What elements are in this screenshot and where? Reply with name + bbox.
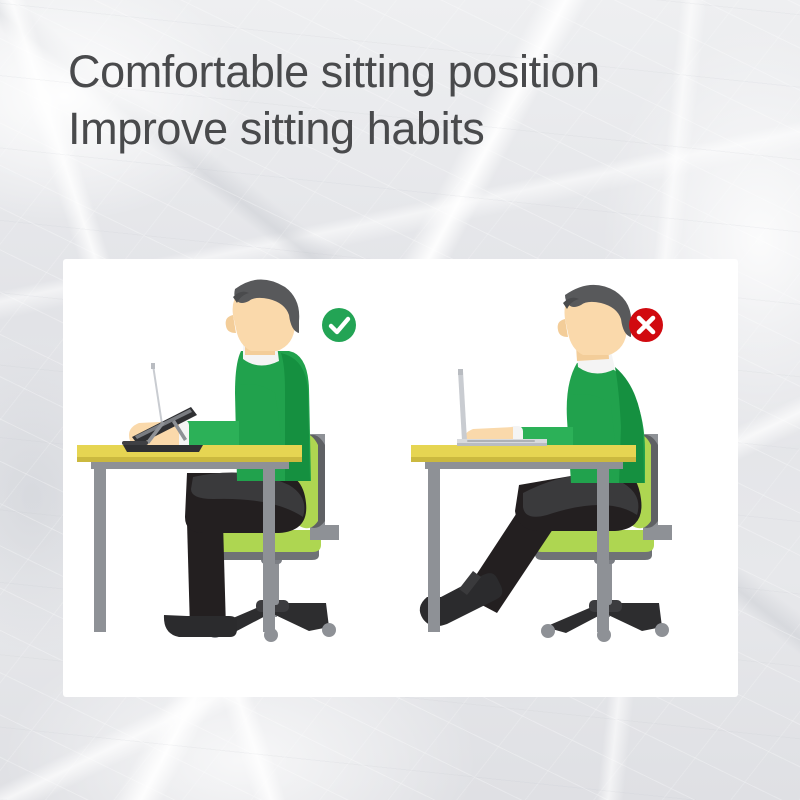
correct-posture-illustration xyxy=(63,259,403,697)
laptop-screen-incorrect xyxy=(458,371,467,441)
person-head-correct xyxy=(226,279,300,351)
page-title: Comfortable sitting position Improve sit… xyxy=(68,44,728,157)
desk-leg-right-correct xyxy=(263,464,275,632)
laptop-keyboard-incorrect xyxy=(467,440,535,442)
laptop-base-edge-incorrect xyxy=(457,443,547,446)
page-title-line-1: Comfortable sitting position xyxy=(68,44,728,101)
chair-seat-incorrect xyxy=(533,530,654,560)
desk-top-edge-incorrect xyxy=(411,457,636,462)
panel-incorrect-posture: incorrect xyxy=(401,259,738,697)
incorrect-posture-illustration xyxy=(401,259,738,697)
stand-base-correct xyxy=(123,445,203,452)
illustration-card: correct xyxy=(63,259,738,697)
desk-leg-right-incorrect xyxy=(597,464,609,632)
desk-leg-left-incorrect xyxy=(428,464,440,632)
desk-top-edge-correct xyxy=(77,457,302,462)
desk-leg-left-correct xyxy=(94,464,106,632)
panel-correct-posture: correct xyxy=(63,259,403,697)
person-head-incorrect xyxy=(558,285,632,355)
laptop-screen-correct xyxy=(152,365,164,431)
page-title-line-2: Improve sitting habits xyxy=(68,101,728,158)
check-circle-icon xyxy=(322,308,356,342)
x-circle-icon xyxy=(629,308,663,342)
